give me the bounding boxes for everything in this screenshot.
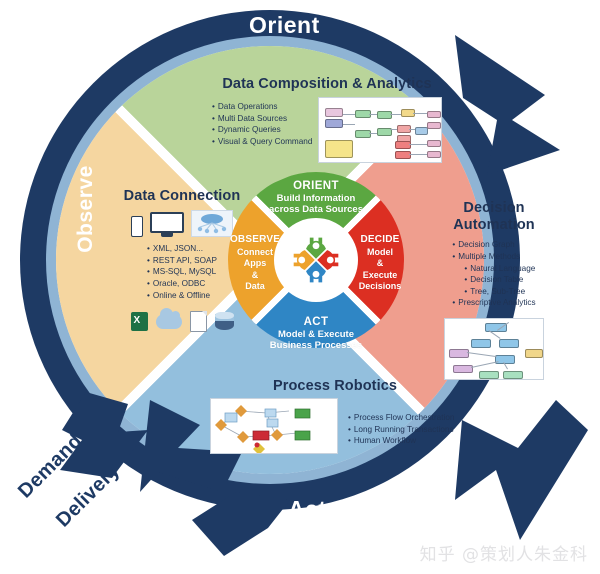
segment-orient-subtitle: Build Informationacross Data Sources xyxy=(218,194,414,215)
panel-decision-automation: Decision Automation Decision Graph Multi… xyxy=(430,200,558,380)
list-item: XML, JSON... xyxy=(147,243,217,255)
phone-icon xyxy=(131,216,143,237)
list-item: Human Workflow xyxy=(348,435,454,447)
segment-observe-subtitle: ConnectApps&Data xyxy=(226,247,284,292)
segment-decide-title: DECIDE xyxy=(352,234,408,245)
ring-label-orient: Orient xyxy=(249,12,320,39)
process-flow-diagram-thumbnail xyxy=(210,398,338,454)
segment-label-observe: OBSERVE ConnectApps&Data xyxy=(226,234,284,292)
ring-label-act: Act xyxy=(288,496,327,523)
list-item: Multiple Methods xyxy=(452,251,535,263)
list-item: Decision Graph xyxy=(452,239,535,251)
four-arrow-pinwheel-icon xyxy=(285,229,347,291)
list-item: Long Running Transactions xyxy=(348,424,454,436)
list-item: Tree, Sub-Tree xyxy=(464,286,535,298)
ring-label-observe: Observe xyxy=(74,165,98,253)
panel-bottom-bullets: Process Flow Orchestration Long Running … xyxy=(348,412,454,447)
panel-left-bullets: XML, JSON... REST API, SOAP MS-SQL, MySQ… xyxy=(147,243,217,301)
list-item: Process Flow Orchestration xyxy=(348,412,454,424)
list-item: Prescriptive Analytics xyxy=(452,297,535,309)
segment-act-subtitle: Model & ExecuteBusiness Processes xyxy=(218,330,414,351)
segment-decide-subtitle: Model&ExecuteDecisions xyxy=(352,247,408,292)
list-item: Oracle, ODBC xyxy=(147,278,217,290)
segment-label-orient: ORIENT Build Informationacross Data Sour… xyxy=(218,180,414,215)
document-icon xyxy=(190,311,207,332)
panel-bottom-heading: Process Robotics xyxy=(210,378,460,394)
list-item: Decision Table xyxy=(464,274,535,286)
list-item: Data Operations xyxy=(212,101,312,113)
wheel-hub xyxy=(274,218,358,302)
segment-observe-title: OBSERVE xyxy=(226,234,284,245)
arrowhead-bottom-left-far xyxy=(192,492,290,556)
list-item: Visual & Query Command xyxy=(212,136,312,148)
panel-right-heading: Decision Automation xyxy=(430,200,558,234)
panel-data-composition: Data Composition & Analytics Data Operat… xyxy=(212,76,442,163)
cloud-icon xyxy=(156,314,182,329)
excel-icon xyxy=(131,312,148,331)
segment-label-decide: DECIDE Model&ExecuteDecisions xyxy=(352,234,408,292)
panel-right-bullets: Decision Graph Multiple Methods Natural … xyxy=(452,239,535,309)
segment-orient-title: ORIENT xyxy=(218,180,414,193)
panel-top-bullets: Data Operations Multi Data Sources Dynam… xyxy=(212,101,312,163)
list-item: Dynamic Queries xyxy=(212,124,312,136)
arrowhead-top-right xyxy=(455,35,560,175)
list-item: Online & Offline xyxy=(147,290,217,302)
monitor-icon xyxy=(150,212,184,237)
data-flow-graph-thumbnail xyxy=(318,97,442,163)
segment-label-act: ACT Model & ExecuteBusiness Processes xyxy=(218,316,414,351)
panel-top-heading: Data Composition & Analytics xyxy=(212,76,442,92)
list-item: Natural Language xyxy=(464,263,535,275)
list-item: REST API, SOAP xyxy=(147,255,217,267)
panel-process-robotics: Process Robotics xyxy=(210,378,460,454)
decision-tree-graph-thumbnail xyxy=(444,318,544,380)
list-item: Multi Data Sources xyxy=(212,113,312,125)
watermark: 知乎 @策划人朱金科 xyxy=(420,540,588,565)
diagram-canvas: Orient Decide Act Observe Demand Deliver… xyxy=(0,0,600,574)
list-item: MS-SQL, MySQL xyxy=(147,266,217,278)
segment-act-title: ACT xyxy=(218,316,414,329)
arrowhead-bottom-right xyxy=(455,400,588,540)
